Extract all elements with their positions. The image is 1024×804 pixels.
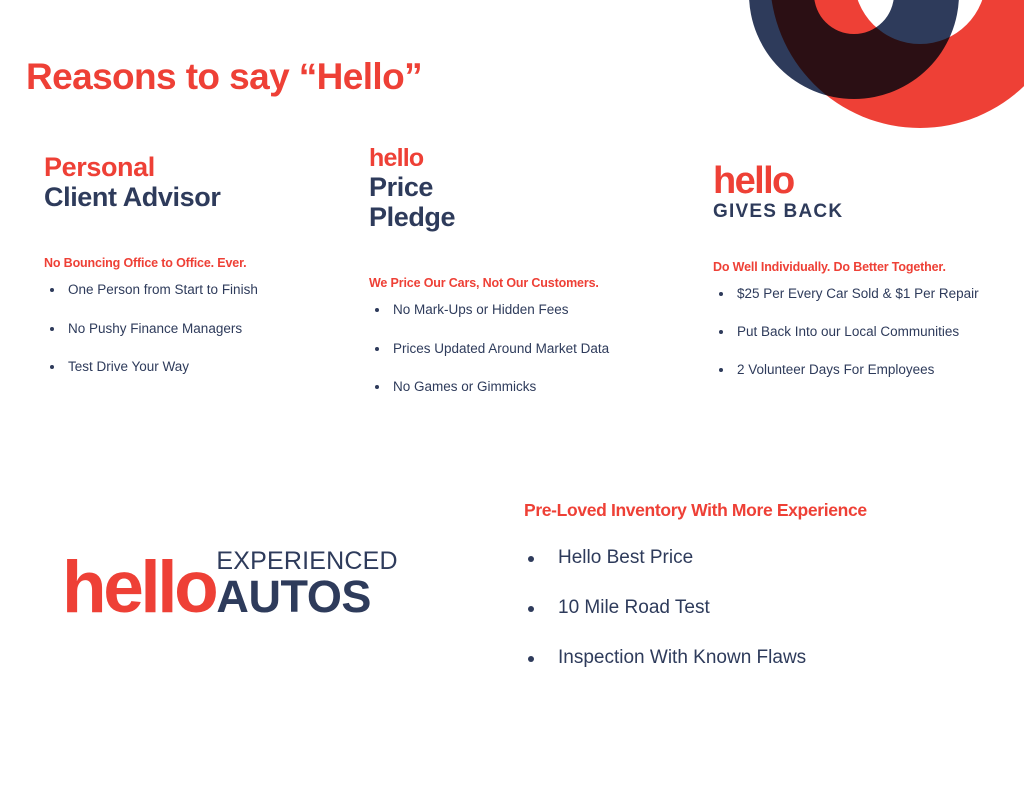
list-item: Hello Best Price: [524, 547, 994, 570]
bullet-dot-icon: [528, 606, 534, 612]
section-bullet-list: Hello Best Price 10 Mile Road Test Inspe…: [524, 547, 994, 669]
logo-autos-label: AUTOS: [216, 575, 397, 618]
feature-column-personal-client-advisor: Personal Client Advisor No Bouncing Offi…: [44, 140, 344, 397]
column-heading-line-2: GIVES BACK: [713, 200, 1013, 224]
logo-word-stack: EXPERIENCED AUTOS: [216, 548, 397, 620]
red-ring: [770, 0, 1024, 128]
list-item: One Person from Start to Finish: [44, 282, 344, 298]
column-bullet-list: One Person from Start to Finish No Pushy…: [44, 282, 344, 375]
list-item: Prices Updated Around Market Data: [369, 341, 669, 357]
feature-column-hello-gives-back: hello GIVES BACK Do Well Individually. D…: [713, 140, 1013, 400]
column-heading: hello GIVES BACK: [713, 140, 1013, 224]
list-item: Put Back Into our Local Communities: [713, 324, 1013, 340]
bullet-dot-icon: [719, 292, 723, 296]
list-item: $25 Per Every Car Sold & $1 Per Repair: [713, 286, 1013, 302]
bullet-dot-icon: [50, 288, 54, 292]
hello-wordmark: hello: [62, 556, 215, 620]
column-bullet-list: No Mark-Ups or Hidden Fees Prices Update…: [369, 302, 669, 395]
list-item-label: Inspection With Known Flaws: [558, 647, 806, 668]
list-item-label: Test Drive Your Way: [68, 359, 189, 374]
bullet-dot-icon: [528, 656, 534, 662]
column-tagline: We Price Our Cars, Not Our Customers.: [369, 276, 669, 290]
list-item-label: 2 Volunteer Days For Employees: [737, 362, 934, 377]
hello-wordmark: hello: [369, 144, 669, 172]
bullet-dot-icon: [528, 556, 534, 562]
list-item-label: No Mark-Ups or Hidden Fees: [393, 302, 569, 317]
list-item: Test Drive Your Way: [44, 359, 344, 375]
bullet-dot-icon: [719, 330, 723, 334]
pre-loved-inventory-section: Pre-Loved Inventory With More Experience…: [524, 500, 994, 696]
list-item-label: Put Back Into our Local Communities: [737, 324, 959, 339]
slide-canvas: Reasons to say “Hello” Personal Client A…: [0, 0, 1024, 804]
bullet-dot-icon: [50, 327, 54, 331]
list-item-label: Hello Best Price: [558, 547, 693, 568]
page-title: Reasons to say “Hello”: [26, 57, 422, 98]
bullet-dot-icon: [50, 365, 54, 369]
hello-experienced-autos-logo: hello EXPERIENCED AUTOS: [62, 534, 398, 620]
column-heading: Personal Client Advisor: [44, 140, 344, 212]
column-heading-line-3: Pledge: [369, 202, 669, 232]
list-item-label: One Person from Start to Finish: [68, 282, 258, 297]
feature-columns: Personal Client Advisor No Bouncing Offi…: [0, 140, 1024, 400]
hello-wordmark: hello: [713, 162, 1013, 200]
navy-ring: [749, 0, 959, 99]
bullet-dot-icon: [375, 347, 379, 351]
list-item-label: No Games or Gimmicks: [393, 379, 536, 394]
column-tagline: No Bouncing Office to Office. Ever.: [44, 256, 344, 270]
bullet-dot-icon: [375, 385, 379, 389]
column-heading: hello Price Pledge: [369, 140, 669, 232]
list-item: No Pushy Finance Managers: [44, 321, 344, 337]
feature-column-hello-price-pledge: hello Price Pledge We Price Our Cars, No…: [369, 140, 669, 417]
column-tagline: Do Well Individually. Do Better Together…: [713, 260, 1013, 274]
list-item-label: 10 Mile Road Test: [558, 597, 710, 618]
list-item-label: No Pushy Finance Managers: [68, 321, 242, 336]
list-item: No Mark-Ups or Hidden Fees: [369, 302, 669, 318]
list-item: 10 Mile Road Test: [524, 597, 994, 620]
decorative-rings: [724, 0, 1024, 140]
list-item: 2 Volunteer Days For Employees: [713, 362, 1013, 378]
section-title: Pre-Loved Inventory With More Experience: [524, 500, 994, 521]
column-heading-line-2: Price: [369, 172, 669, 202]
column-bullet-list: $25 Per Every Car Sold & $1 Per Repair P…: [713, 286, 1013, 379]
column-heading-line-2: Client Advisor: [44, 182, 344, 212]
bullet-dot-icon: [375, 308, 379, 312]
list-item-label: $25 Per Every Car Sold & $1 Per Repair: [737, 286, 979, 301]
list-item: No Games or Gimmicks: [369, 379, 669, 395]
list-item: Inspection With Known Flaws: [524, 647, 994, 670]
bullet-dot-icon: [719, 368, 723, 372]
list-item-label: Prices Updated Around Market Data: [393, 341, 609, 356]
column-heading-line-1: Personal: [44, 152, 344, 182]
